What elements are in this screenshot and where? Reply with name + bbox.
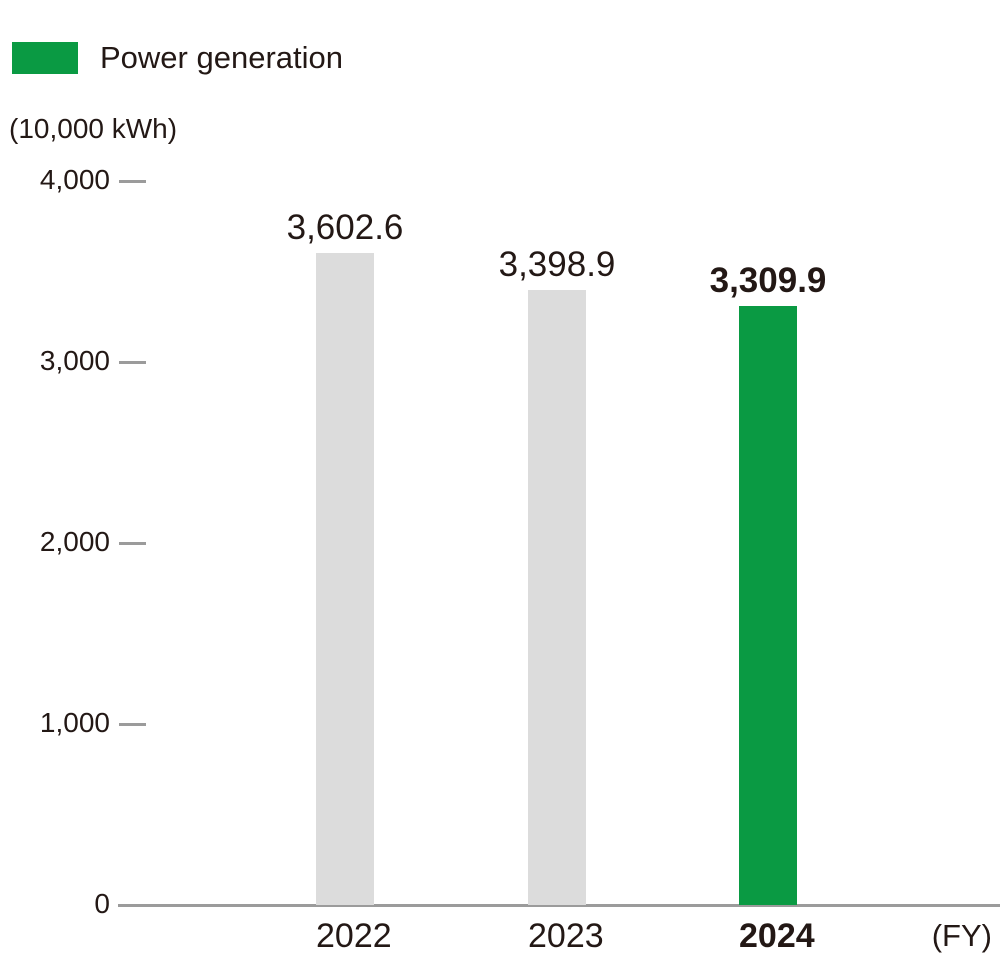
y-axis-tick-mark-1000 — [119, 723, 146, 726]
bar-rect-2024 — [739, 306, 797, 905]
bar-2022[interactable]: 3,602.6 — [316, 253, 374, 905]
x-axis-label-2024: 2024 — [739, 916, 797, 956]
y-axis-tick-mark-3000 — [119, 361, 146, 364]
bar-rect-2023 — [528, 290, 586, 905]
bar-2024[interactable]: 3,309.9 — [739, 306, 797, 905]
x-axis-label-2022: 2022 — [316, 916, 374, 956]
bar-2023[interactable]: 3,398.9 — [528, 290, 586, 905]
bar-value-2022: 3,602.6 — [287, 209, 404, 247]
power-generation-bar-chart: Power generation (10,000 kWh) 4,000 3,00… — [0, 0, 1000, 965]
bar-value-2024: 3,309.9 — [710, 262, 827, 300]
y-axis-tick-label-3000: 3,000 — [40, 347, 110, 375]
plot-area: 4,000 3,000 2,000 1,000 0 3,602.6 3,398.… — [0, 0, 1000, 965]
y-axis-tick-label-0: 0 — [94, 890, 110, 918]
y-axis-tick-mark-2000 — [119, 542, 146, 545]
bar-value-2023: 3,398.9 — [499, 246, 616, 284]
y-axis-tick-label-1000: 1,000 — [40, 709, 110, 737]
x-axis-label-2023: 2023 — [528, 916, 586, 956]
y-axis-tick-mark-4000 — [119, 180, 146, 183]
y-axis-tick-label-4000: 4,000 — [40, 166, 110, 194]
bar-rect-2022 — [316, 253, 374, 905]
x-axis-unit-note: (FY) — [932, 916, 992, 956]
y-axis-tick-label-2000: 2,000 — [40, 528, 110, 556]
